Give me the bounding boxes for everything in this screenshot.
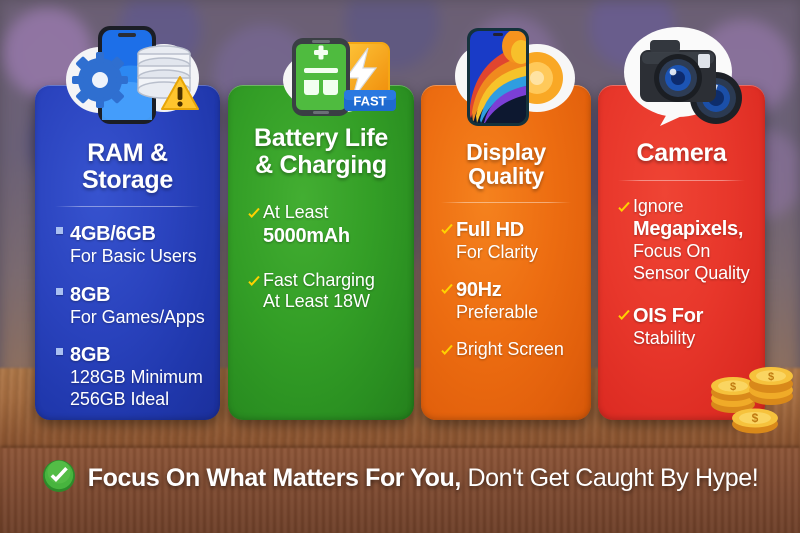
- item-secondary-text: Megapixels,: [633, 217, 752, 241]
- icon-ram-storage: [60, 18, 200, 131]
- card-items-display-quality: Full HD For Clarity 90Hz Preferable Br: [434, 203, 578, 361]
- check-icon: [617, 196, 633, 285]
- card-items-battery-charging: At Least 5000mAh Fast Charging At Least …: [241, 192, 401, 313]
- item-primary-text: At Least: [263, 202, 401, 224]
- card-ram-storage[interactable]: RAM & Storage 4GB/6GB For Basic Users 8G…: [35, 85, 220, 420]
- item-primary-text: Bright Screen: [456, 339, 578, 361]
- banner-message: Focus On What Matters For You, Don't Get…: [88, 464, 759, 493]
- check-icon: [440, 339, 456, 361]
- item-secondary-text: Stability: [633, 328, 752, 350]
- icon-battery-fast-charging: FAST: [272, 22, 398, 131]
- item-secondary-text: At Least 18W: [263, 291, 401, 313]
- svg-text:$: $: [730, 381, 736, 393]
- list-item: Bright Screen: [440, 339, 578, 361]
- list-item: OIS For Stability: [617, 304, 752, 350]
- list-item: At Least 5000mAh: [247, 202, 401, 248]
- item-secondary-text: 128GB Minimum: [70, 367, 207, 389]
- item-secondary-text: Preferable: [456, 302, 578, 324]
- item-primary-text: 90Hz: [456, 278, 578, 302]
- check-icon: [440, 278, 456, 324]
- list-item: 90Hz Preferable: [440, 278, 578, 324]
- list-item: Fast Charging At Least 18W: [247, 270, 401, 313]
- item-primary-text: 8GB: [70, 283, 207, 307]
- square-bullet-icon: [54, 283, 70, 329]
- item-primary-text: Ignore: [633, 196, 752, 218]
- card-battery-charging[interactable]: Battery Life & Charging At Least 5000mAh…: [228, 85, 414, 420]
- check-icon: [440, 218, 456, 264]
- check-icon: [617, 304, 633, 350]
- list-item: 4GB/6GB For Basic Users: [54, 222, 207, 268]
- list-item: Ignore Megapixels, Focus On Sensor Quali…: [617, 196, 752, 285]
- card-items-camera: Ignore Megapixels, Focus On Sensor Quali…: [611, 181, 752, 350]
- banner-normal-text: Don't Get Caught By Hype!: [461, 464, 758, 492]
- item-tertiary-text: 256GB Ideal: [70, 389, 207, 411]
- item-quaternary-text: Sensor Quality: [633, 263, 752, 285]
- item-secondary-text: For Games/Apps: [70, 307, 207, 329]
- card-display-quality[interactable]: Display Quality Full HD For Clarity 90Hz…: [421, 85, 591, 420]
- svg-text:FAST: FAST: [353, 94, 386, 109]
- item-tertiary-text: Focus On: [633, 241, 752, 263]
- icon-display-quality: [455, 22, 579, 131]
- item-primary-text: Full HD: [456, 218, 578, 242]
- list-item: 8GB For Games/Apps: [54, 283, 207, 329]
- card-items-ram-storage: 4GB/6GB For Basic Users 8GB For Games/Ap…: [48, 207, 207, 410]
- square-bullet-icon: [54, 222, 70, 268]
- item-secondary-text: For Basic Users: [70, 246, 207, 268]
- svg-text:$: $: [752, 411, 759, 425]
- svg-text:$: $: [768, 371, 774, 383]
- green-check-circle-icon: [42, 459, 76, 498]
- banner-bold-text: Focus On What Matters For You,: [88, 464, 461, 492]
- icon-camera: [620, 20, 750, 133]
- gold-coins-decoration: $ $ $: [705, 350, 797, 447]
- fast-badge: FAST: [344, 90, 396, 111]
- bottom-banner: Focus On What Matters For You, Don't Get…: [0, 452, 800, 504]
- check-icon: [247, 202, 263, 248]
- item-primary-text: OIS For: [633, 304, 752, 328]
- item-secondary-text: For Clarity: [456, 242, 578, 264]
- square-bullet-icon: [54, 343, 70, 410]
- check-icon: [247, 270, 263, 313]
- list-item: Full HD For Clarity: [440, 218, 578, 264]
- item-primary-text: 4GB/6GB: [70, 222, 207, 246]
- item-primary-text: Fast Charging: [263, 270, 401, 292]
- item-secondary-text: 5000mAh: [263, 224, 401, 248]
- item-primary-text: 8GB: [70, 343, 207, 367]
- list-item: 8GB 128GB Minimum 256GB Ideal: [54, 343, 207, 410]
